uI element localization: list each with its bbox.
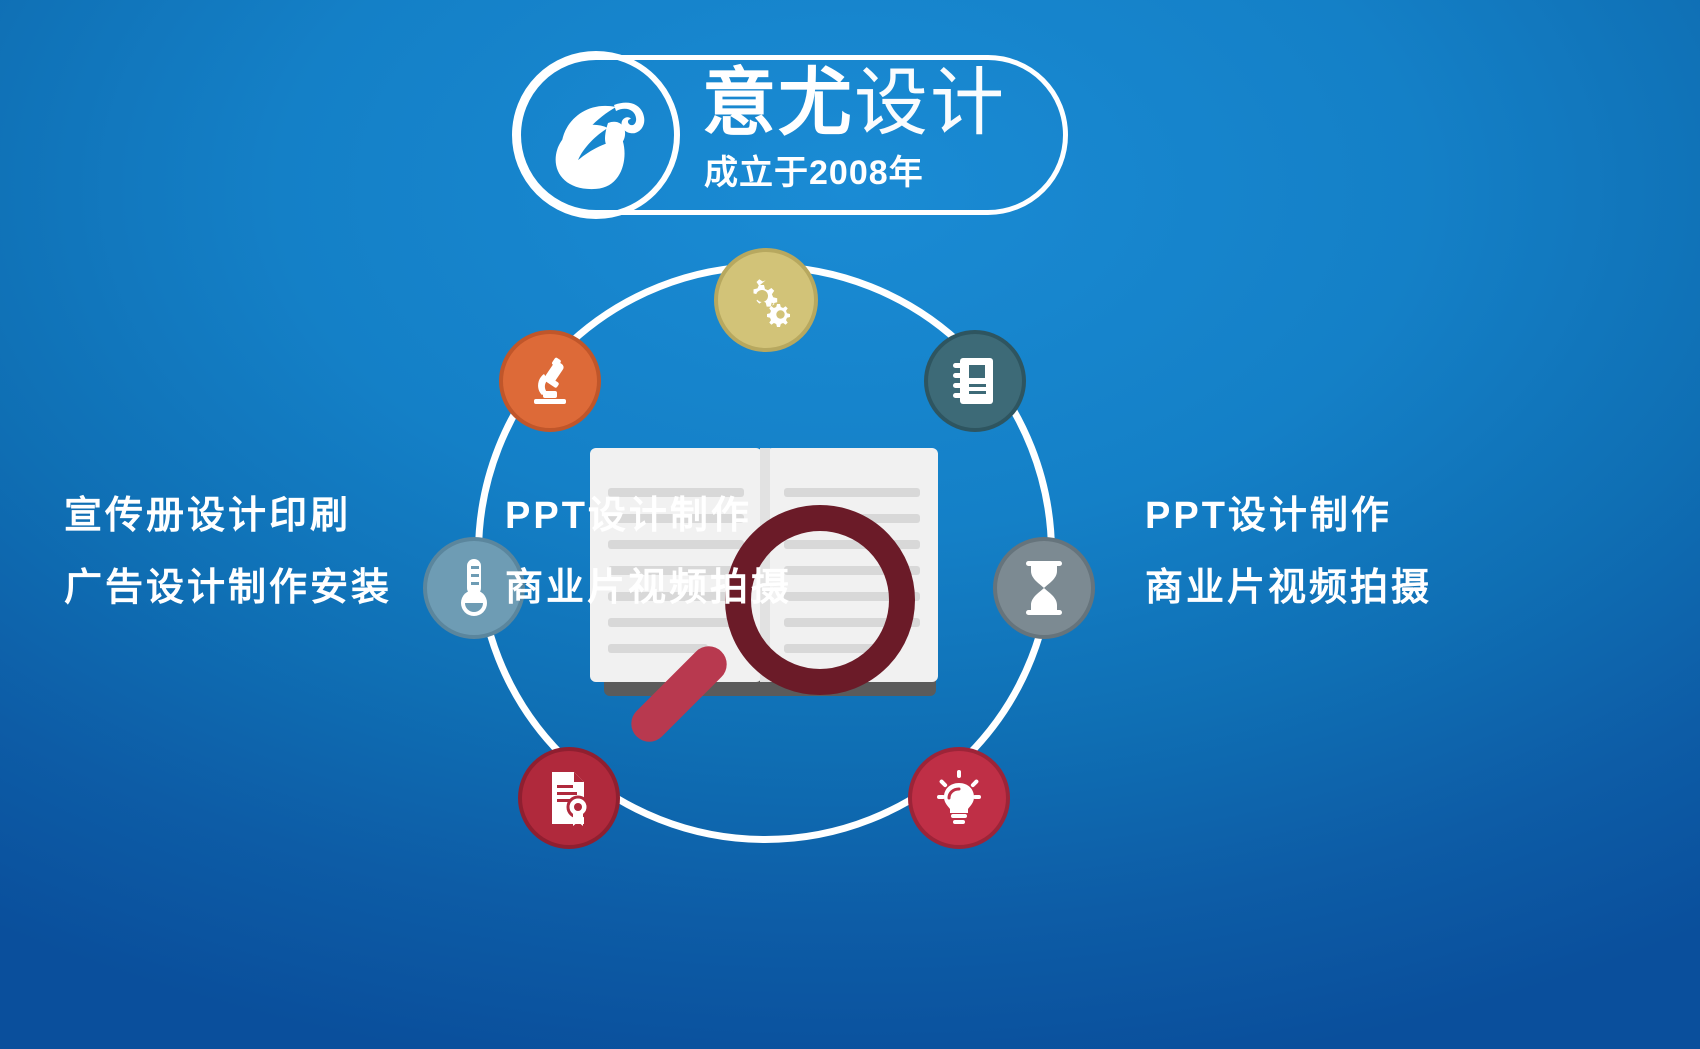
ring-node-gear[interactable] [714, 248, 818, 352]
ring-node-hourglass[interactable] [993, 537, 1095, 639]
text-center-line1: PPT设计制作 [505, 480, 792, 552]
ring-node-microscope[interactable] [499, 330, 601, 432]
logo-wordmark: 意尤设计 成立于2008年 [702, 61, 1062, 211]
ring-node-notebook[interactable] [924, 330, 1026, 432]
hourglass-icon [1021, 559, 1067, 617]
text-block-left: 宣传册设计印刷 广告设计制作安装 [64, 480, 392, 624]
text-block-center: PPT设计制作 商业片视频拍摄 [505, 480, 792, 624]
brand-name: 意尤设计 [702, 63, 1006, 143]
text-left-line1: 宣传册设计印刷 [64, 480, 392, 552]
brand-logo: 意尤设计 成立于2008年 [516, 55, 1068, 215]
text-block-right: PPT设计制作 商业片视频拍摄 [1145, 480, 1432, 624]
text-right-line2: 商业片视频拍摄 [1145, 552, 1432, 624]
text-center-line2: 商业片视频拍摄 [505, 552, 792, 624]
brand-name-bold: 意尤 [702, 61, 854, 144]
text-left-line2: 广告设计制作安装 [64, 552, 392, 624]
gears-icon [737, 271, 795, 329]
brand-name-thin: 设计 [854, 61, 1006, 144]
slide-canvas: 意尤设计 成立于2008年 [0, 0, 1700, 1049]
thermometer-icon [454, 557, 494, 619]
brand-tagline: 成立于2008年 [704, 153, 924, 193]
certificate-icon [544, 769, 594, 827]
text-right-line1: PPT设计制作 [1145, 480, 1432, 552]
microscope-icon [522, 353, 578, 409]
notebook-icon [949, 354, 1001, 408]
leaf-swirl-logo-icon [538, 75, 662, 203]
